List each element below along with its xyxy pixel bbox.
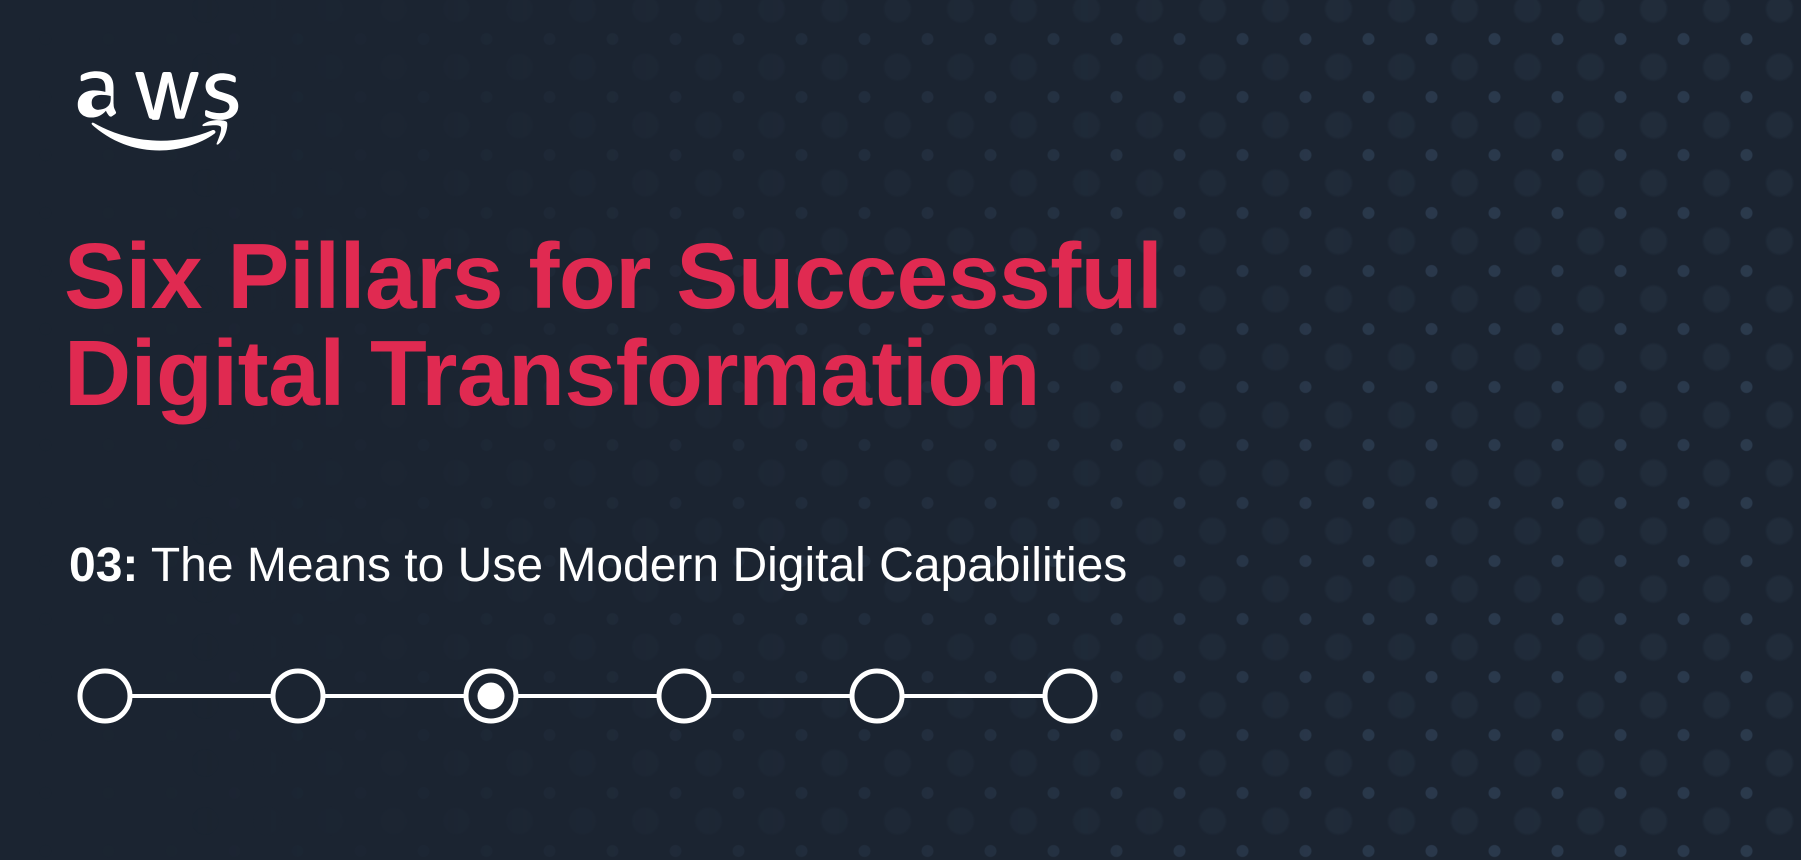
stepper-step-2[interactable] bbox=[273, 671, 323, 721]
stepper-dot-4[interactable] bbox=[659, 671, 709, 721]
stepper-dot-3-fill bbox=[478, 683, 505, 710]
stepper-dot-2[interactable] bbox=[273, 671, 323, 721]
progress-stepper[interactable] bbox=[69, 662, 1109, 730]
slide-title-line-2: Digital Transformation bbox=[64, 325, 1464, 422]
stepper-dot-6[interactable] bbox=[1045, 671, 1095, 721]
stepper-step-5[interactable] bbox=[852, 671, 902, 721]
slide-title: Six Pillars for Successful Digital Trans… bbox=[64, 228, 1464, 422]
section-number: 03: bbox=[69, 539, 138, 592]
section-title: The Means to Use Modern Digital Capabili… bbox=[151, 539, 1127, 592]
stepper-step-6[interactable] bbox=[1045, 671, 1095, 721]
background-dot-pattern bbox=[0, 0, 1801, 860]
slide-title-line-1: Six Pillars for Successful bbox=[64, 228, 1464, 325]
stepper-step-1[interactable] bbox=[80, 671, 130, 721]
stepper-step-4[interactable] bbox=[659, 671, 709, 721]
background-dot-pattern-soft bbox=[0, 0, 1801, 860]
slide-subtitle: 03: The Means to Use Modern Digital Capa… bbox=[69, 538, 1127, 594]
stepper-dot-1[interactable] bbox=[80, 671, 130, 721]
stepper-dot-5[interactable] bbox=[852, 671, 902, 721]
stepper-step-3-active[interactable] bbox=[466, 671, 516, 721]
aws-logo bbox=[66, 42, 262, 158]
slide-canvas: Six Pillars for Successful Digital Trans… bbox=[0, 0, 1801, 860]
